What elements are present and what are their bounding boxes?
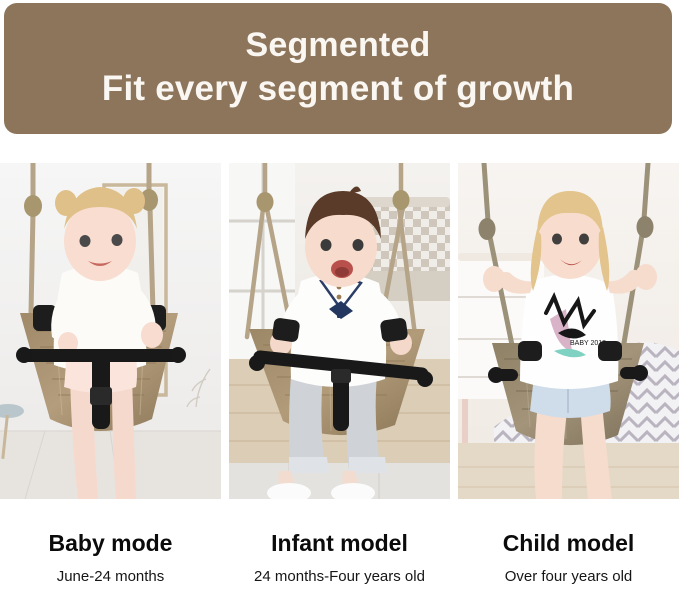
photo-baby-mode [0,163,221,499]
caption-infant-model: Infant model 24 months-Four years old [229,528,450,587]
product-feature-image: Segmented Fit every segment of growth [0,0,679,611]
caption-title: Child model [458,528,679,558]
caption-baby-mode: Baby mode June-24 months [0,528,221,587]
caption-subtitle: Over four years old [458,567,679,587]
caption-row: Baby mode June-24 months Infant model 24… [0,528,679,587]
caption-child-model: Child model Over four years old [458,528,679,587]
banner-title-line-2: Fit every segment of growth [102,67,574,111]
caption-title: Baby mode [0,528,221,558]
photo-child-model: BABY 2018 [458,163,679,499]
caption-subtitle: 24 months-Four years old [229,567,450,587]
photo-infant-model [229,163,450,499]
caption-subtitle: June-24 months [0,567,221,587]
header-banner: Segmented Fit every segment of growth [4,3,672,134]
caption-title: Infant model [229,528,450,558]
photo-row: BABY 2018 [0,163,679,499]
banner-title-line-1: Segmented [245,23,430,67]
